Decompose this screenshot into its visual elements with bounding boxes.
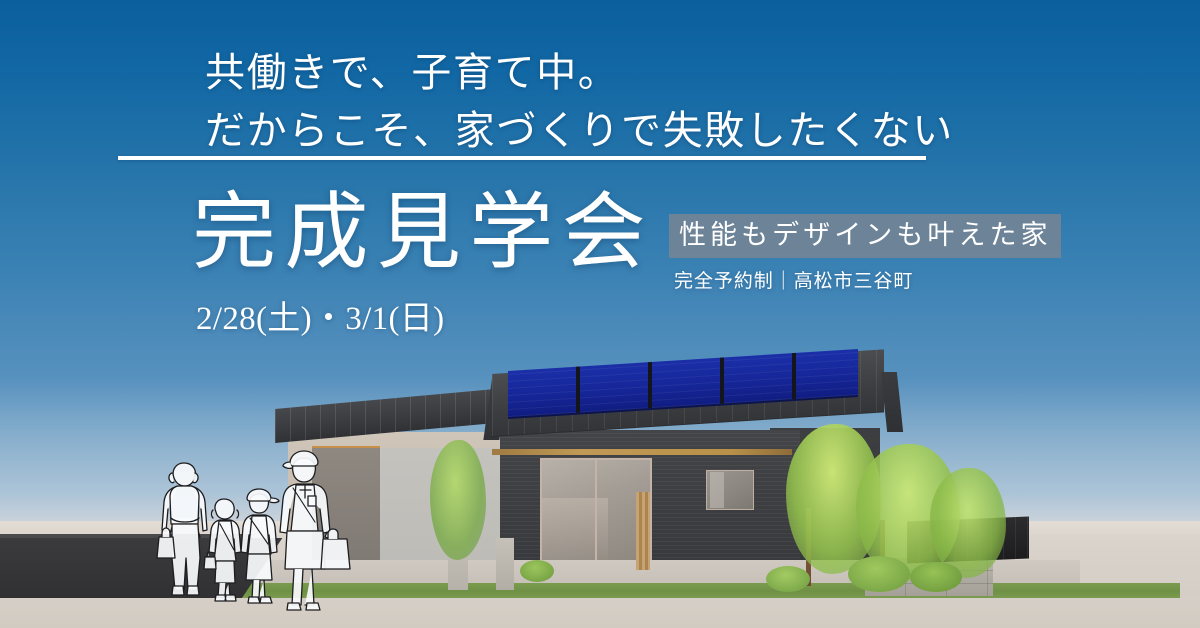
glass-reflection (542, 498, 608, 560)
status-badge: 性能もデザインも叶えた家 (669, 214, 1061, 258)
roof-ridge-right (881, 372, 903, 432)
shrub-3 (766, 566, 810, 592)
figure-son (241, 489, 279, 603)
gate-post-mid (496, 538, 514, 590)
headline-line-2: だからこそ、家づくりで失敗したくない (205, 102, 965, 160)
side-window-glare (710, 472, 724, 508)
shrub-2 (910, 562, 962, 592)
wood-screen (636, 492, 650, 570)
door-mullion (595, 458, 597, 562)
tree-foliage-1 (430, 440, 486, 560)
headline-line-1: 共働きで、子育て中。 (205, 44, 965, 102)
family-figures (150, 440, 380, 628)
wood-eave-band (492, 449, 792, 455)
headline: 共働きで、子育て中。 だからこそ、家づくりで失敗したくない (205, 44, 965, 161)
shrub-1 (848, 556, 910, 592)
event-dates: 2/28(土)・3/1(日) (196, 303, 444, 336)
shrub-4 (520, 560, 554, 582)
divider-rule (118, 156, 926, 160)
figure-daughter (204, 499, 241, 601)
figure-father (280, 451, 350, 610)
figure-mother (157, 463, 207, 595)
reservation-note: 完全予約制｜高松市三谷町 (674, 272, 913, 291)
page-title: 完成見学会 (192, 192, 654, 276)
event-banner: 共働きで、子育て中。 だからこそ、家づくりで失敗したくない 完成見学会 2/28… (0, 0, 1200, 628)
